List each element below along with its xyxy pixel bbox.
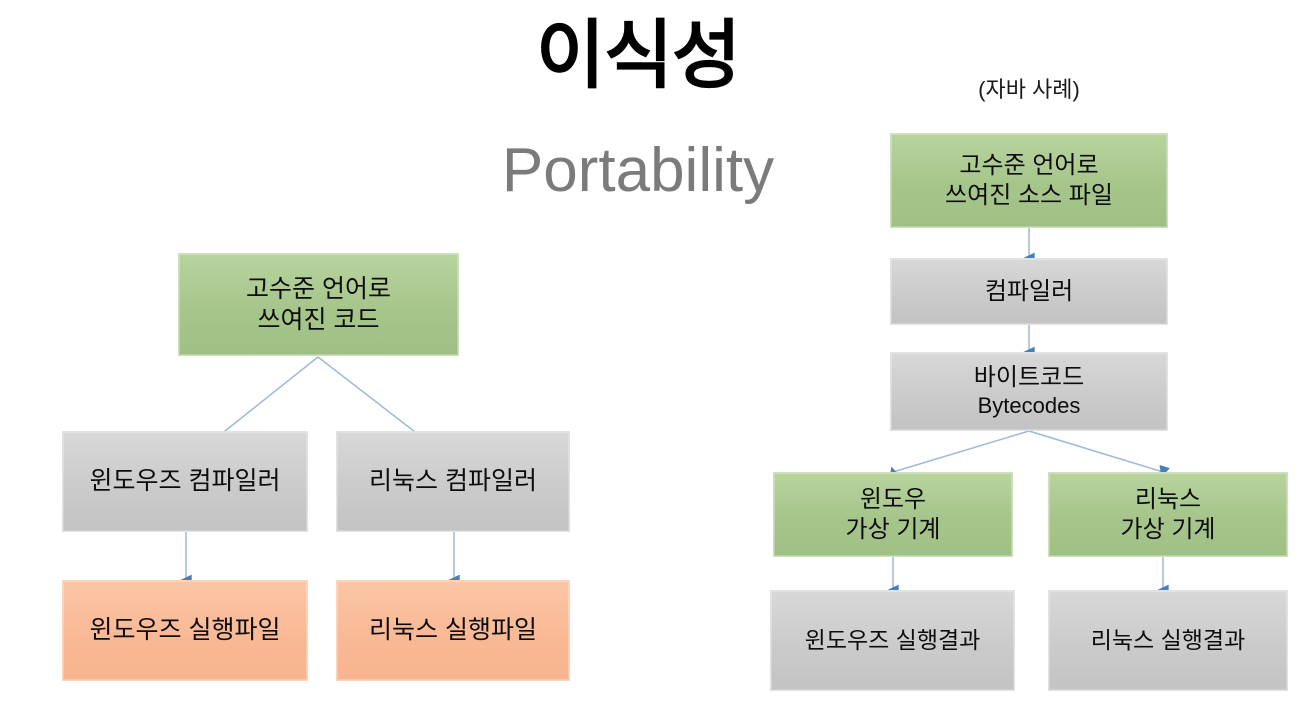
node-windows-result[interactable]: 윈도우즈 실행결과 xyxy=(770,590,1015,691)
node-windows-result-label: 윈도우즈 실행결과 xyxy=(805,626,981,654)
edge-bytecodes-to-linux-vm xyxy=(1029,431,1163,472)
node-bytecodes-label: 바이트코드 Bytecodes xyxy=(974,363,1084,419)
node-windows-compiler[interactable]: 윈도우즈 컴파일러 xyxy=(62,431,308,532)
node-windows-vm[interactable]: 윈도우 가상 기계 xyxy=(773,472,1013,557)
node-windows-executable-label: 윈도우즈 실행파일 xyxy=(90,615,281,646)
node-windows-compiler-label: 윈도우즈 컴파일러 xyxy=(90,466,281,497)
node-linux-result-label: 리눅스 실행결과 xyxy=(1091,626,1246,654)
node-linux-executable[interactable]: 리눅스 실행파일 xyxy=(336,580,570,681)
node-source-file[interactable]: 고수준 언어로 쓰여진 소스 파일 xyxy=(890,133,1168,228)
node-compiler-label: 컴파일러 xyxy=(985,277,1073,306)
node-source-code[interactable]: 고수준 언어로 쓰여진 코드 xyxy=(178,253,459,356)
node-compiler[interactable]: 컴파일러 xyxy=(890,258,1168,325)
node-bytecodes[interactable]: 바이트코드 Bytecodes xyxy=(890,352,1168,431)
edge-bytecodes-to-windows-vm xyxy=(893,431,1029,472)
node-linux-vm[interactable]: 리눅스 가상 기계 xyxy=(1048,472,1288,557)
java-example-caption: (자바 사례) xyxy=(890,78,1168,102)
node-linux-result[interactable]: 리눅스 실행결과 xyxy=(1048,590,1288,691)
node-linux-vm-label: 리눅스 가상 기계 xyxy=(1121,485,1216,544)
node-source-code-label: 고수준 언어로 쓰여진 코드 xyxy=(246,274,391,335)
node-linux-compiler[interactable]: 리눅스 컴파일러 xyxy=(336,431,570,532)
node-linux-executable-label: 리눅스 실행파일 xyxy=(369,615,537,646)
slide-canvas: 이식성 Portability (자바 사례) 고수준 언어로 쓰여진 xyxy=(0,0,1312,721)
node-windows-executable[interactable]: 윈도우즈 실행파일 xyxy=(62,580,308,681)
node-windows-vm-label: 윈도우 가상 기계 xyxy=(846,485,941,544)
node-source-file-label: 고수준 언어로 쓰여진 소스 파일 xyxy=(945,151,1113,210)
node-linux-compiler-label: 리눅스 컴파일러 xyxy=(369,466,537,497)
